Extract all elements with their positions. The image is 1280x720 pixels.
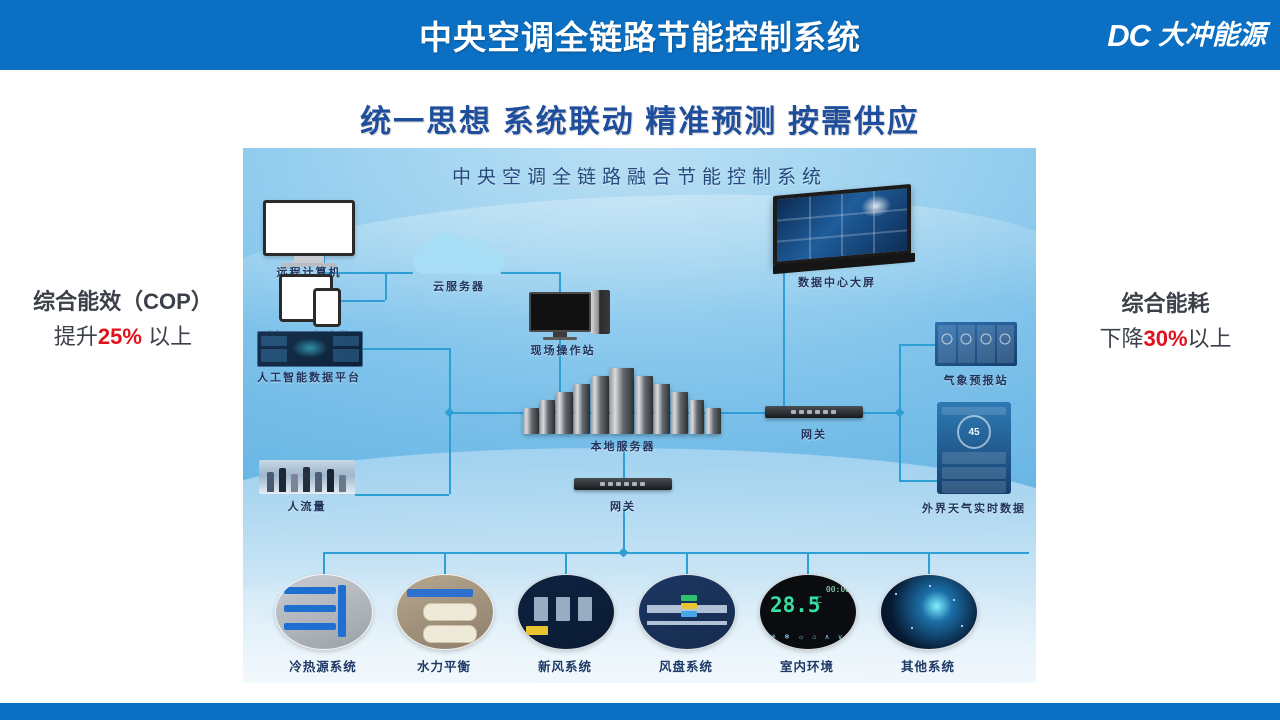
connector-sub-2 — [444, 552, 446, 574]
connector-sub-4 — [686, 552, 688, 574]
gw-right-port-2 — [799, 410, 804, 414]
subsystem-image-air — [517, 574, 615, 650]
connector-bottom-gw-v — [623, 508, 625, 552]
subsystem-label-5: 室内环境 — [759, 656, 855, 675]
gw-bottom-port-6 — [640, 482, 645, 486]
connector-sub-3 — [565, 552, 567, 574]
gw-right-port-1 — [791, 410, 796, 414]
weather-panel-value: 45 — [957, 415, 991, 449]
gw-bottom-port-2 — [608, 482, 613, 486]
monitor-stand — [294, 256, 324, 263]
thermostat-unit: ℃ — [812, 595, 822, 606]
weather-station-col-4 — [997, 325, 1015, 363]
callout-energy: 综合能耗 下降30%以上 — [1058, 286, 1273, 353]
callout-cop: 综合能效（COP） 提升25% 以上 — [14, 284, 232, 351]
node-workstation[interactable]: 现场操作站 — [529, 292, 591, 340]
connector-people-h — [355, 494, 449, 496]
subsystem-image-fcu — [638, 574, 736, 650]
ai-platform-screen — [257, 331, 363, 367]
other-star-4 — [961, 625, 963, 627]
callout-energy-suffix: 以上 — [1188, 326, 1232, 351]
server-rack-11 — [705, 408, 721, 434]
hydro-header-pipe — [407, 589, 473, 597]
air-status-tag — [526, 626, 548, 635]
node-gateway-bottom[interactable]: 网关 — [574, 478, 672, 490]
gw-bottom-port-1 — [600, 482, 605, 486]
subsystem-label-1: 冷热源系统 — [275, 656, 371, 675]
other-star-1 — [895, 593, 897, 595]
subsystem-label-2: 水力平衡 — [396, 656, 492, 675]
connector-ai-v — [449, 348, 451, 412]
page-footer — [0, 703, 1280, 720]
chiller-pipe-1 — [284, 587, 336, 594]
air-unit-1 — [534, 597, 548, 621]
connector-node-left — [445, 408, 455, 418]
subsystem-fan-coil[interactable]: 风盘系统 — [638, 574, 734, 675]
node-people-flow[interactable]: 人流量 — [259, 460, 355, 494]
weather-station-col-1 — [938, 325, 956, 363]
chiller-pipe-3 — [284, 623, 336, 630]
connector-people-v — [449, 412, 451, 494]
connector-wpanel-v — [899, 412, 901, 480]
gw-bottom-port-3 — [616, 482, 621, 486]
node-gateway-right[interactable]: 网关 — [765, 406, 863, 418]
fcu-chip-green — [681, 595, 697, 601]
node-mobile-tablet[interactable]: 手机、平板电脑 — [279, 274, 333, 322]
hydro-tank-1 — [423, 603, 477, 621]
person-2 — [279, 468, 286, 492]
node-people-flow-label: 人流量 — [288, 498, 327, 514]
node-weather-station[interactable]: 气象预报站 — [935, 322, 1017, 366]
server-rack-3 — [556, 392, 573, 434]
gw-bottom-port-4 — [624, 482, 629, 486]
node-video-wall-label: 数据中心大屏 — [798, 274, 876, 290]
node-cloud-server-label: 云服务器 — [433, 278, 485, 294]
diagram-title: 中央空调全链路融合节能控制系统 — [243, 162, 1036, 189]
architecture-diagram: 中央空调全链路融合节能控制系统 远 — [243, 148, 1036, 683]
person-1 — [267, 472, 274, 492]
person-4 — [303, 467, 310, 492]
callout-energy-prefix: 下降 — [1099, 326, 1143, 351]
server-rack-4 — [574, 384, 590, 434]
logo-mark: DC — [1107, 20, 1150, 51]
connector-sub-5 — [807, 552, 809, 574]
node-video-wall[interactable]: 数据中心大屏 — [773, 190, 915, 268]
server-rack-9 — [671, 392, 688, 434]
monitor-icon — [263, 200, 355, 256]
page-title: 中央空调全链路节能控制系统 — [0, 0, 1280, 70]
other-star-3 — [953, 599, 955, 601]
weather-station-icon — [935, 322, 1017, 366]
ai-cell-2 — [261, 349, 287, 362]
subsystem-label-4: 风盘系统 — [638, 656, 734, 675]
server-rack-7 — [635, 376, 653, 434]
air-unit-3 — [578, 597, 592, 621]
workstation-foot — [543, 337, 577, 340]
node-local-server[interactable]: 本地服务器 — [523, 368, 723, 434]
callout-cop-suffix: 以上 — [142, 324, 192, 349]
vwall-glare — [861, 194, 891, 219]
subsystem-other[interactable]: 其他系统 — [880, 574, 976, 675]
subsystem-image-chiller — [275, 574, 373, 650]
thermostat-control-icons: ✳ ❄ ☼ ⌂ ∧ ∨ — [760, 633, 856, 641]
callout-energy-percent: 30% — [1143, 326, 1187, 351]
subsystem-cold-heat-source[interactable]: 冷热源系统 — [275, 574, 371, 675]
ai-cell-1 — [261, 336, 287, 346]
gw-bottom-port-5 — [632, 482, 637, 486]
person-6 — [327, 469, 334, 492]
node-gateway-right-label: 网关 — [801, 426, 827, 442]
cloud-icon — [413, 236, 505, 272]
server-rack-6 — [610, 368, 634, 434]
subsystem-image-thermostat: 00:00 28.5 ℃ ✳ ❄ ☼ ⌂ ∧ ∨ — [759, 574, 857, 650]
ai-cell-3 — [333, 336, 359, 346]
cloud-part-4 — [417, 244, 439, 266]
gw-right-port-6 — [831, 410, 836, 414]
connector-remote-join — [385, 272, 387, 300]
gw-right-port-5 — [823, 410, 828, 414]
subsystem-label-6: 其他系统 — [880, 656, 976, 675]
ai-map-glow — [292, 338, 328, 358]
vwall-grid-v1 — [809, 197, 811, 259]
weather-panel-row-2 — [942, 467, 1006, 479]
node-weather-station-label: 气象预报站 — [944, 372, 1009, 388]
server-rack-10 — [689, 400, 704, 434]
connector-wstation-h — [899, 344, 939, 346]
node-weather-realtime[interactable]: 45 外界天气实时数据 — [937, 402, 1011, 494]
subsystem-hydraulic-balance[interactable]: 水力平衡 — [396, 574, 492, 675]
node-workstation-label: 现场操作站 — [531, 342, 596, 358]
connector-ai-h — [361, 348, 449, 350]
people-flow-image — [259, 460, 355, 494]
workstation-tower-icon — [591, 290, 610, 334]
gateway-right-icon — [765, 406, 863, 418]
connector-subsystem-bus — [323, 552, 1029, 554]
person-5 — [315, 472, 322, 492]
phone-icon — [313, 288, 341, 327]
chiller-pipe-2 — [284, 605, 336, 612]
gw-right-port-3 — [807, 410, 812, 414]
gateway-bottom-icon — [574, 478, 672, 490]
subsystem-indoor-environment[interactable]: 00:00 28.5 ℃ ✳ ❄ ☼ ⌂ ∧ ∨ 室内环境 — [759, 574, 855, 675]
weather-panel-header — [942, 407, 1006, 415]
workstation-monitor-icon — [529, 292, 591, 332]
video-wall-icon — [773, 184, 911, 266]
chiller-riser — [338, 585, 346, 637]
server-cluster-icon — [523, 368, 723, 434]
subsystem-image-other — [880, 574, 978, 650]
vwall-grid-v2 — [841, 194, 843, 256]
person-7 — [339, 475, 346, 492]
brand-logo: DC 大冲能源 — [1107, 14, 1266, 56]
person-3 — [291, 474, 298, 492]
server-rack-1 — [523, 408, 539, 434]
other-star-2 — [911, 627, 913, 629]
node-local-server-label: 本地服务器 — [591, 438, 656, 454]
callout-energy-value: 下降30%以上 — [1058, 321, 1273, 353]
slide-subtitle: 统一思想 系统联动 精准预测 按需供应 — [0, 96, 1280, 141]
callout-energy-title: 综合能耗 — [1058, 286, 1273, 318]
server-rack-5 — [591, 376, 609, 434]
callout-cop-title: 综合能效（COP） — [14, 284, 232, 316]
callout-cop-value: 提升25% 以上 — [14, 319, 232, 351]
callout-cop-prefix: 提升 — [54, 324, 98, 349]
node-ai-platform[interactable]: 人工智能数据平台 — [257, 331, 363, 367]
cloud-part-3 — [459, 238, 489, 268]
fcu-chip-blue — [681, 611, 697, 617]
subsystem-fresh-air[interactable]: 新风系统 — [517, 574, 613, 675]
node-ai-platform-label: 人工智能数据平台 — [257, 369, 361, 385]
server-rack-8 — [654, 384, 670, 434]
node-remote-computer[interactable]: 远程计算机 — [263, 200, 355, 267]
fcu-chip-yellow — [681, 603, 697, 609]
connector-sub-1 — [323, 552, 325, 574]
node-gateway-bottom-label: 网关 — [610, 498, 636, 514]
thermostat-timer: 00:00 — [826, 585, 850, 594]
connector-left-bus — [449, 412, 523, 414]
weather-panel-row-3 — [942, 481, 1006, 493]
connector-wstation-v — [899, 344, 901, 412]
page-header: 中央空调全链路节能控制系统 DC 大冲能源 — [0, 0, 1280, 70]
callout-cop-percent: 25% — [98, 324, 142, 349]
connector-cloud-out — [501, 272, 559, 274]
logo-name: 大冲能源 — [1158, 22, 1266, 49]
connector-vwall-v — [783, 258, 785, 412]
weather-station-col-2 — [958, 325, 976, 363]
background-wave-1 — [243, 181, 1036, 331]
air-unit-2 — [556, 597, 570, 621]
connector-sub-6 — [928, 552, 930, 574]
node-weather-realtime-label: 外界天气实时数据 — [922, 500, 1026, 516]
node-cloud-server[interactable]: 云服务器 — [413, 236, 505, 272]
weather-realtime-panel: 45 — [937, 402, 1011, 494]
weather-station-col-3 — [977, 325, 995, 363]
gw-right-port-4 — [815, 410, 820, 414]
fcu-duct-2 — [647, 621, 727, 625]
ai-cell-4 — [333, 349, 359, 362]
subsystem-label-3: 新风系统 — [517, 656, 613, 675]
subsystem-image-hydro — [396, 574, 494, 650]
other-star-5 — [929, 585, 931, 587]
server-rack-2 — [540, 400, 555, 434]
connector-cloud-in — [385, 272, 413, 274]
weather-panel-row-1 — [942, 452, 1006, 464]
hydro-tank-2 — [423, 625, 477, 643]
